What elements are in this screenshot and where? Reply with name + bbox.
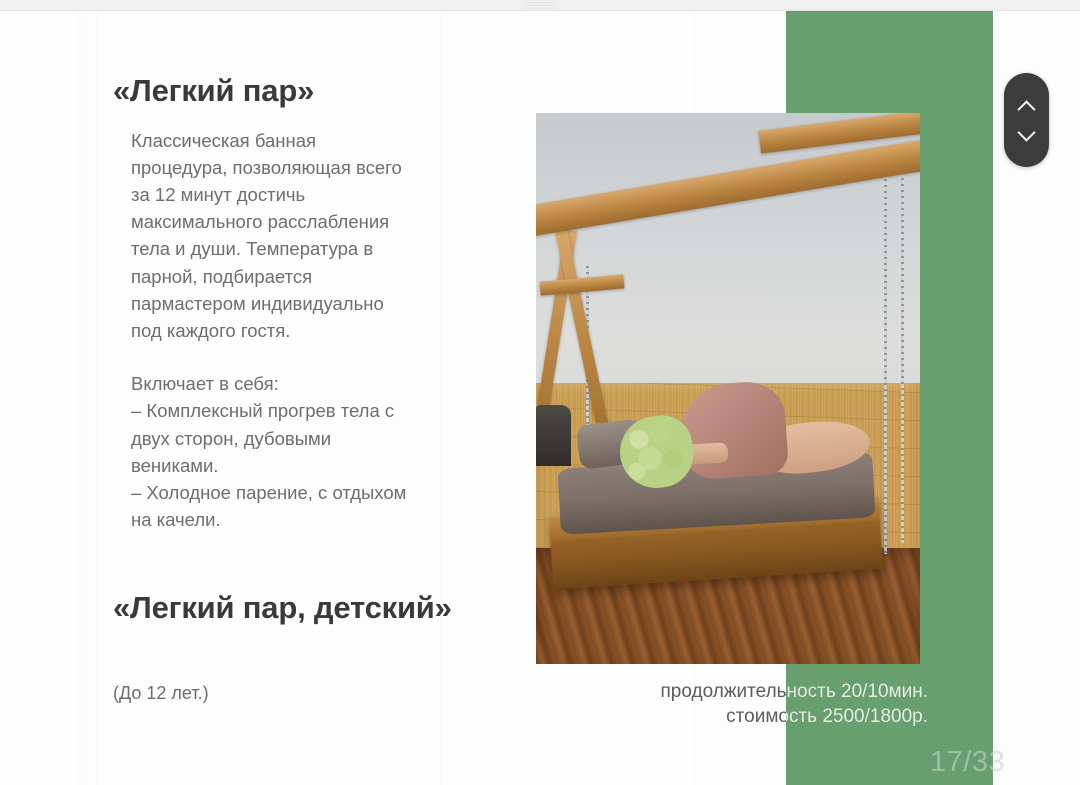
photo-chain-right-2 xyxy=(901,168,904,543)
photo-dark-object xyxy=(536,405,571,466)
presentation-slide: «Легкий пар» Классическая банная процеду… xyxy=(0,11,1080,785)
chevron-up-icon[interactable] xyxy=(1018,102,1035,112)
window-top-strip xyxy=(0,0,1080,11)
screenshot-viewport: «Легкий пар» Классическая банная процеду… xyxy=(0,0,1080,785)
secondary-title: «Легкий пар, детский» xyxy=(113,590,513,626)
page-title: «Легкий пар» xyxy=(113,73,513,109)
swing-bed-photo xyxy=(536,113,920,664)
includes-paragraph: Включает в себя: – Комплексный прогрев т… xyxy=(131,370,513,533)
text-column: «Легкий пар» Классическая банная процеду… xyxy=(113,73,513,533)
paper-seam xyxy=(96,11,99,785)
chevron-down-icon[interactable] xyxy=(1018,128,1035,138)
age-note: (До 12 лет.) xyxy=(113,683,209,704)
slide-navigation-control[interactable] xyxy=(1004,73,1049,167)
window-drag-handle-icon[interactable] xyxy=(525,2,555,9)
photo-chain-right xyxy=(884,157,887,554)
paper-seam xyxy=(78,11,81,785)
description-paragraph: Классическая банная процедура, позволяющ… xyxy=(131,127,513,345)
